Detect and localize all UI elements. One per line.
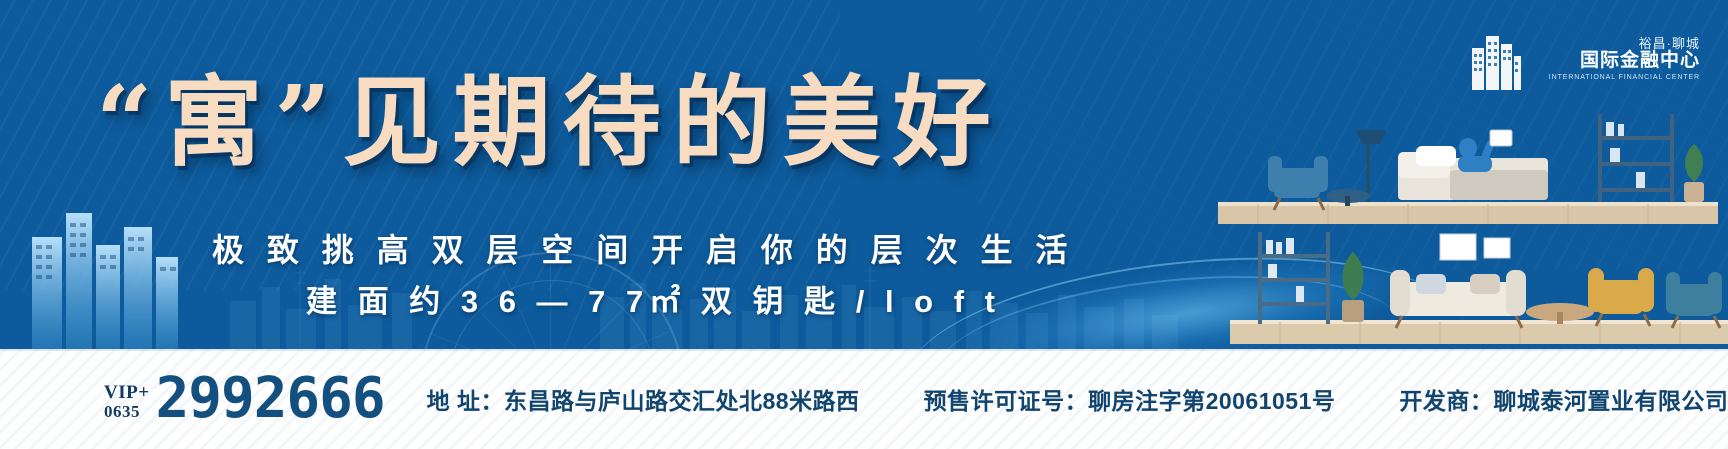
livingroom-interior-photo — [1230, 216, 1728, 349]
logo-line-english: INTERNATIONAL FINANCIAL CENTER — [1530, 74, 1700, 82]
brand-logo: 裕昌·聊城 国际金融中心 INTERNATIONAL FINANCIAL CEN… — [1470, 22, 1700, 96]
logo-line-project: 裕昌·聊城 — [1530, 37, 1700, 51]
banner-artwork: “寓”见期待的美好 极 致 挑 高 双 层 空 间 开 启 你 的 层 次 生 … — [0, 0, 1728, 349]
subtitle-features: 极 致 挑 高 双 层 空 间 开 启 你 的 层 次 生 活 — [212, 234, 1074, 266]
area-code: 0635 — [104, 403, 140, 421]
developer-text: 开发商：聊城泰河置业有限公司 — [1399, 382, 1728, 416]
vip-label: VIP+ — [104, 383, 150, 403]
vip-label-group: VIP+ 0635 — [104, 383, 150, 425]
building-logo-icon — [1470, 28, 1522, 90]
logo-line-name: 国际金融中心 — [1530, 51, 1700, 72]
spec-area-range: 建 面 约 3 6 — 7 7 — [306, 284, 649, 319]
phone-number[interactable]: 2992666 — [156, 373, 385, 425]
bedroom-interior-photo — [1218, 96, 1718, 228]
address-text: 地 址：东昌路与庐山路交汇处北88米路西 — [427, 382, 860, 416]
subtitle-specs: 建 面 约 3 6 — 7 7㎡ 双 钥 匙 / l o f t — [306, 286, 1001, 317]
presale-permit-text: 预售许可证号：聊房注字第20061051号 — [924, 382, 1336, 416]
footer-details: 地 址：东昌路与庐山路交汇处北88米路西 预售许可证号：聊房注字第2006105… — [427, 382, 1728, 416]
light-swoosh-glow — [873, 196, 1508, 349]
spec-area-unit: ㎡ — [649, 284, 686, 319]
spec-type: 双 钥 匙 / l o f t — [701, 284, 1001, 319]
residential-towers-illustration — [18, 179, 208, 349]
contact-info-bar: VIP+ 0635 2992666 地 址：东昌路与庐山路交汇处北88米路西 预… — [0, 349, 1728, 449]
advertisement-banner: “寓”见期待的美好 极 致 挑 高 双 层 空 间 开 启 你 的 层 次 生 … — [0, 0, 1728, 449]
phone-block: VIP+ 0635 2992666 — [104, 373, 385, 425]
page-title: “寓”见期待的美好 — [96, 74, 1003, 172]
logo-text-block: 裕昌·聊城 国际金融中心 INTERNATIONAL FINANCIAL CEN… — [1530, 37, 1700, 81]
